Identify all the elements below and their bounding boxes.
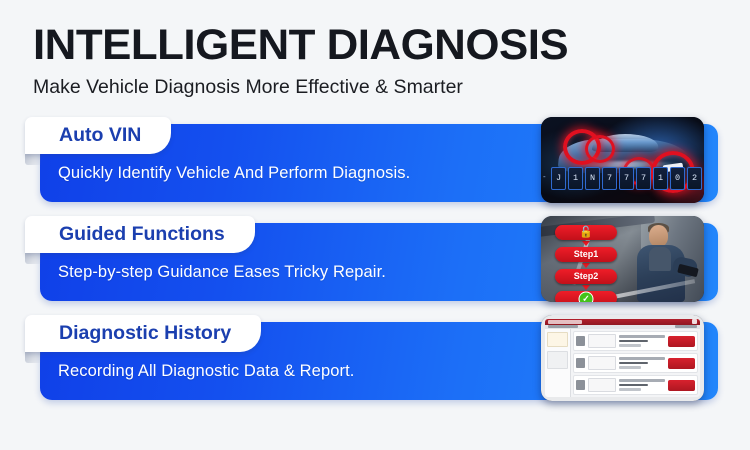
- guided-functions-thumbnail[interactable]: 🔓 Step1 Step2 ✓: [541, 216, 704, 302]
- vin-cell: 7: [619, 167, 634, 190]
- table-row: [573, 353, 698, 373]
- report-action-button: [668, 358, 695, 369]
- page-subtitle: Make Vehicle Diagnosis More Effective & …: [33, 75, 713, 99]
- sidebar-block: [547, 351, 568, 369]
- close-icon: [692, 319, 697, 324]
- feature-description: Step-by-step Guidance Eases Tricky Repai…: [58, 263, 386, 282]
- report-body: [545, 329, 700, 397]
- row-line: [619, 388, 641, 391]
- row-text: [619, 357, 665, 369]
- feature-row[interactable]: Auto VIN Quickly Identify Vehicle And Pe…: [0, 117, 750, 209]
- flow-node-unlock: 🔓: [555, 225, 617, 240]
- tab-fold-shadow: [25, 253, 41, 264]
- feature-label: Auto VIN: [59, 126, 141, 146]
- flow-node-step2: Step2: [555, 269, 617, 284]
- tab-fold-shadow: [25, 352, 41, 363]
- flow-node-step1: Step1: [555, 247, 617, 262]
- vin-cell: 1: [568, 167, 583, 190]
- vehicle-chip: [588, 356, 616, 370]
- table-row: [573, 375, 698, 395]
- flow-node-complete: ✓: [555, 291, 617, 302]
- vin-cell: N: [585, 167, 600, 190]
- feature-label: Diagnostic History: [59, 324, 231, 344]
- row-line: [619, 379, 665, 382]
- check-icon: ✓: [579, 291, 594, 302]
- mechanic-head: [649, 225, 668, 247]
- vin-cell: J: [551, 167, 566, 190]
- feature-label-tab[interactable]: Auto VIN: [25, 117, 171, 154]
- vin-cell: 7: [602, 167, 617, 190]
- feature-label: Guided Functions: [59, 225, 225, 245]
- flow-arrow-icon: [582, 285, 590, 290]
- vin-cell: 7: [636, 167, 651, 190]
- report-action-button: [668, 336, 695, 347]
- vin-character-strip: J 1 N 7 7 7 1 0 2: [551, 167, 702, 190]
- unlock-icon: 🔓: [579, 227, 593, 238]
- row-text: [619, 379, 665, 391]
- toolbar-placeholder: [675, 325, 697, 328]
- document-icon: [576, 380, 585, 390]
- report-screen: [541, 315, 704, 401]
- report-app-window: [545, 319, 700, 397]
- vehicle-chip: [588, 378, 616, 392]
- table-row: [573, 331, 698, 351]
- guided-step-flow: 🔓 Step1 Step2 ✓: [555, 225, 617, 302]
- header: INTELLIGENT DIAGNOSIS Make Vehicle Diagn…: [33, 22, 713, 99]
- vin-dash: -: [543, 172, 546, 181]
- mechanic-shirt: [649, 247, 671, 271]
- report-row-list: [571, 329, 700, 397]
- flow-arrow-icon: [582, 241, 590, 246]
- feature-description: Quickly Identify Vehicle And Perform Dia…: [58, 164, 410, 183]
- report-sidebar: [545, 329, 571, 397]
- row-line: [619, 366, 641, 369]
- row-line: [619, 344, 641, 347]
- row-line: [619, 340, 648, 343]
- intelligent-diagnosis-poster: INTELLIGENT DIAGNOSIS Make Vehicle Diagn…: [0, 0, 750, 450]
- vin-cell: 0: [670, 167, 685, 190]
- sidebar-block: [547, 332, 568, 347]
- auto-vin-thumbnail[interactable]: - J 1 N 7 7 7 1 0 2: [541, 117, 704, 203]
- row-line: [619, 384, 648, 387]
- vehicle-chip: [588, 334, 616, 348]
- vin-cell: 1: [653, 167, 668, 190]
- report-title-placeholder: [548, 320, 582, 324]
- report-action-button: [668, 380, 695, 391]
- breadcrumb-placeholder: [548, 325, 578, 328]
- vin-cell: 2: [687, 167, 702, 190]
- row-line: [619, 357, 665, 360]
- highlight-ring-icon: [585, 135, 615, 163]
- feature-row[interactable]: Diagnostic History Recording All Diagnos…: [0, 315, 750, 407]
- tab-fold-shadow: [25, 154, 41, 165]
- feature-label-tab[interactable]: Guided Functions: [25, 216, 255, 253]
- flow-arrow-icon: [582, 263, 590, 268]
- row-text: [619, 335, 665, 347]
- row-line: [619, 362, 648, 365]
- document-icon: [576, 358, 585, 368]
- feature-description: Recording All Diagnostic Data & Report.: [58, 362, 354, 381]
- feature-label-tab[interactable]: Diagnostic History: [25, 315, 261, 352]
- feature-row[interactable]: Guided Functions Step-by-step Guidance E…: [0, 216, 750, 308]
- diagnostic-history-thumbnail[interactable]: [541, 315, 704, 401]
- document-icon: [576, 336, 585, 346]
- row-line: [619, 335, 665, 338]
- page-title: INTELLIGENT DIAGNOSIS: [33, 22, 727, 68]
